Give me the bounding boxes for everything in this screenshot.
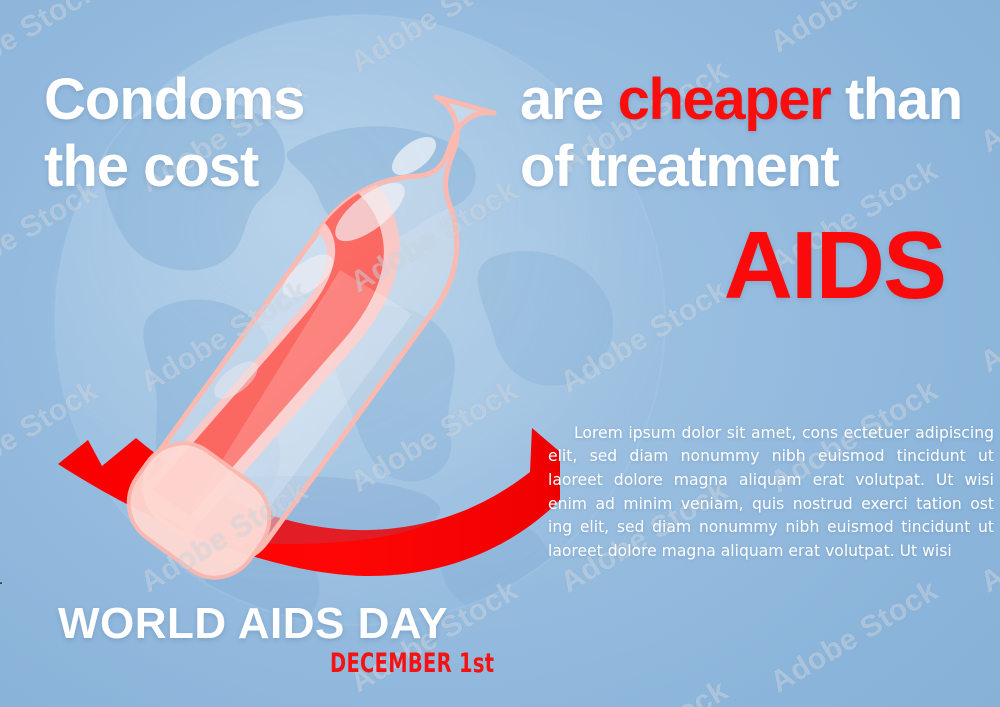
headline-right: are cheaper than of treatment xyxy=(520,66,990,201)
world-aids-day-title: WORLD AIDS DAY xyxy=(58,602,448,646)
headline-right-emphasis: cheaper xyxy=(618,67,831,132)
body-paragraph: Lorem ipsum dolor sit amet, cons ectetue… xyxy=(548,422,994,564)
aids-title: AIDS xyxy=(724,218,945,314)
headline-right-line2: of treatment xyxy=(520,133,990,200)
headline-right-line1-suffix: than xyxy=(830,67,962,132)
headline-left: Condoms the cost xyxy=(44,66,514,201)
world-aids-day-date: DECEMBER 1st xyxy=(330,650,494,677)
stock-id-watermark: Adobe Stock | #547318441 xyxy=(0,467,4,701)
headline-left-line1: Condoms xyxy=(44,67,304,132)
poster-canvas: Adobe Stock Adobe Stock Adobe Stock Adob… xyxy=(0,0,1000,707)
headline-left-line2: the cost xyxy=(44,133,514,200)
headline-right-line1-prefix: are xyxy=(520,67,618,132)
